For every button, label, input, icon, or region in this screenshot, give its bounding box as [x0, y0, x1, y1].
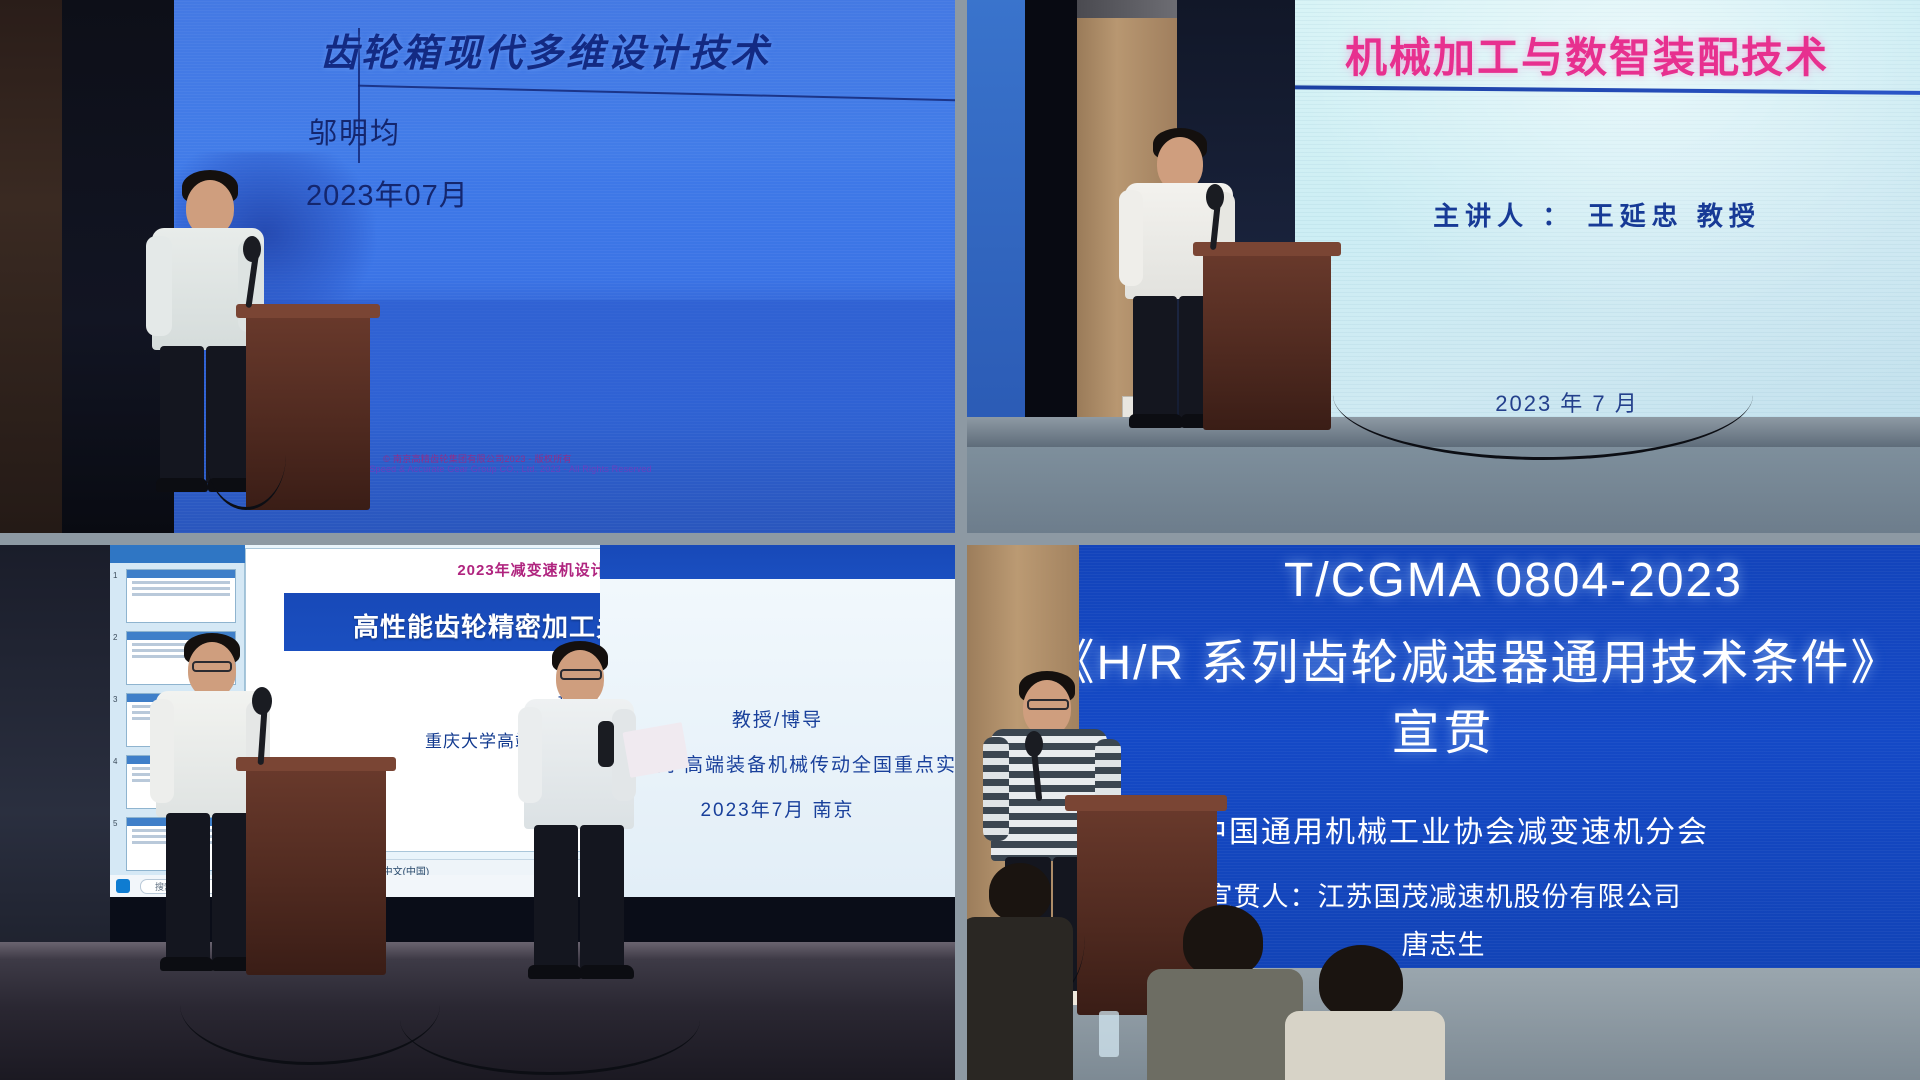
water-bottle: [1099, 1011, 1119, 1057]
start-icon[interactable]: [116, 879, 130, 893]
slide-title: 机械加工与数智装配技术: [1237, 24, 1920, 85]
slide-date: 2023年07月: [306, 172, 469, 214]
slide-presenter: 邬明均: [308, 110, 401, 152]
second-projection-screen: 教授/博导 重庆大学高端装备机械传动全国重点实验室 2023年7月 南京: [600, 545, 955, 897]
microphone-head-left: [252, 687, 272, 715]
panel-top-left: 齿轮箱现代多维设计技术 邬明均 2023年07月 © 南京高精齿轮集团有限公司2…: [0, 0, 955, 533]
standard-title: 《H/R 系列齿轮减速器通用技术条件》: [1027, 623, 1920, 693]
podium-left: [246, 763, 386, 975]
thumb-number: 4: [113, 757, 117, 766]
thumb-number: 5: [113, 819, 117, 828]
thumb-number: 2: [113, 633, 117, 642]
floor: [967, 447, 1920, 533]
podium-top: [236, 304, 380, 318]
organisation-name: 中国通用机械工业协会减变速机分会: [1197, 807, 1920, 851]
slide-presenter-line: 主讲人 ： 王延忠 教授: [1267, 196, 1920, 233]
microphone-head: [1025, 731, 1043, 757]
slide-thumbnail[interactable]: [126, 569, 236, 623]
cable-left: [180, 945, 440, 1065]
cable: [1333, 330, 1753, 460]
thumb-number: 1: [113, 571, 117, 580]
podium-top: [1065, 795, 1227, 811]
stage-edge: [0, 942, 955, 960]
panel-bottom-right: T/CGMA 0804-2023 《H/R 系列齿轮减速器通用技术条件》 宣贯 …: [967, 545, 1920, 1080]
side-wall: [0, 0, 62, 533]
handheld-microphone: [598, 721, 614, 767]
slide-title: 齿轮箱现代多维设计技术: [320, 22, 771, 77]
second-screen-line-3: 2023年7月 南京: [600, 795, 955, 822]
cable: [206, 400, 286, 510]
panel-top-right: 机械加工与数智装配技术 主讲人 ： 王延忠 教授 2023 年 7 月: [967, 0, 1920, 533]
cable-right: [400, 965, 700, 1075]
second-screen-title-bar: [600, 545, 955, 579]
pane-header: [110, 545, 245, 563]
photo-collage: 齿轮箱现代多维设计技术 邬明均 2023年07月 © 南京高精齿轮集团有限公司2…: [0, 0, 1920, 1080]
thumb-number: 3: [113, 695, 117, 704]
microphone-head: [243, 236, 261, 262]
standard-code: T/CGMA 0804-2023: [1107, 553, 1920, 608]
podium: [1203, 248, 1331, 430]
microphone-head: [1206, 184, 1224, 210]
panel-bottom-left: 1 2 3 4 5: [0, 545, 955, 1080]
